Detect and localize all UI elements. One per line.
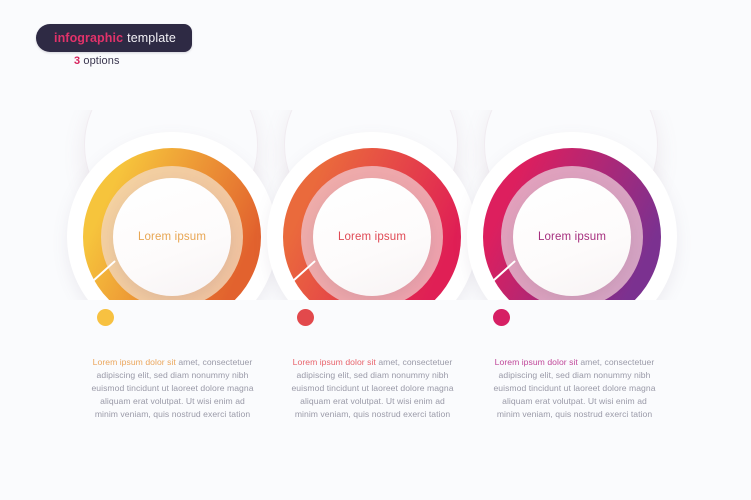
step-description-3: Lorem ipsum dolor sit amet, consectetuer… bbox=[492, 356, 657, 421]
step-description-2: Lorem ipsum dolor sit amet, consectetuer… bbox=[290, 356, 455, 421]
step-2-center-disc[interactable]: Lorem ipsum bbox=[313, 178, 431, 296]
step-2-lead-text: Lorem ipsum dolor sit bbox=[293, 357, 376, 367]
badge-strong-word: infographic bbox=[54, 31, 123, 45]
step-3-lead-text: Lorem ipsum dolor sit bbox=[495, 357, 578, 367]
options-label: options bbox=[83, 55, 119, 67]
step-marker-dot-1[interactable] bbox=[97, 309, 114, 326]
step-description-1: Lorem ipsum dolor sit amet, consectetuer… bbox=[90, 356, 255, 421]
step-2-center-label: Lorem ipsum bbox=[338, 231, 406, 243]
step-3-center-label: Lorem ipsum bbox=[538, 231, 606, 243]
header-badge: infographic template bbox=[36, 24, 192, 52]
step-1-center-label: Lorem ipsum bbox=[138, 231, 206, 243]
options-count: 3 bbox=[74, 55, 80, 67]
badge-light-word: template bbox=[127, 31, 176, 45]
step-1-center-disc[interactable]: Lorem ipsum bbox=[113, 178, 231, 296]
circle-stage: Lorem ipsum Lorem ipsum Lorem ipsum bbox=[0, 110, 751, 300]
step-3-center-disc[interactable]: Lorem ipsum bbox=[513, 178, 631, 296]
step-marker-dot-3[interactable] bbox=[493, 309, 510, 326]
step-1-lead-text: Lorem ipsum dolor sit bbox=[93, 357, 176, 367]
step-marker-dot-2[interactable] bbox=[297, 309, 314, 326]
options-subtitle: 3 options bbox=[74, 55, 120, 67]
